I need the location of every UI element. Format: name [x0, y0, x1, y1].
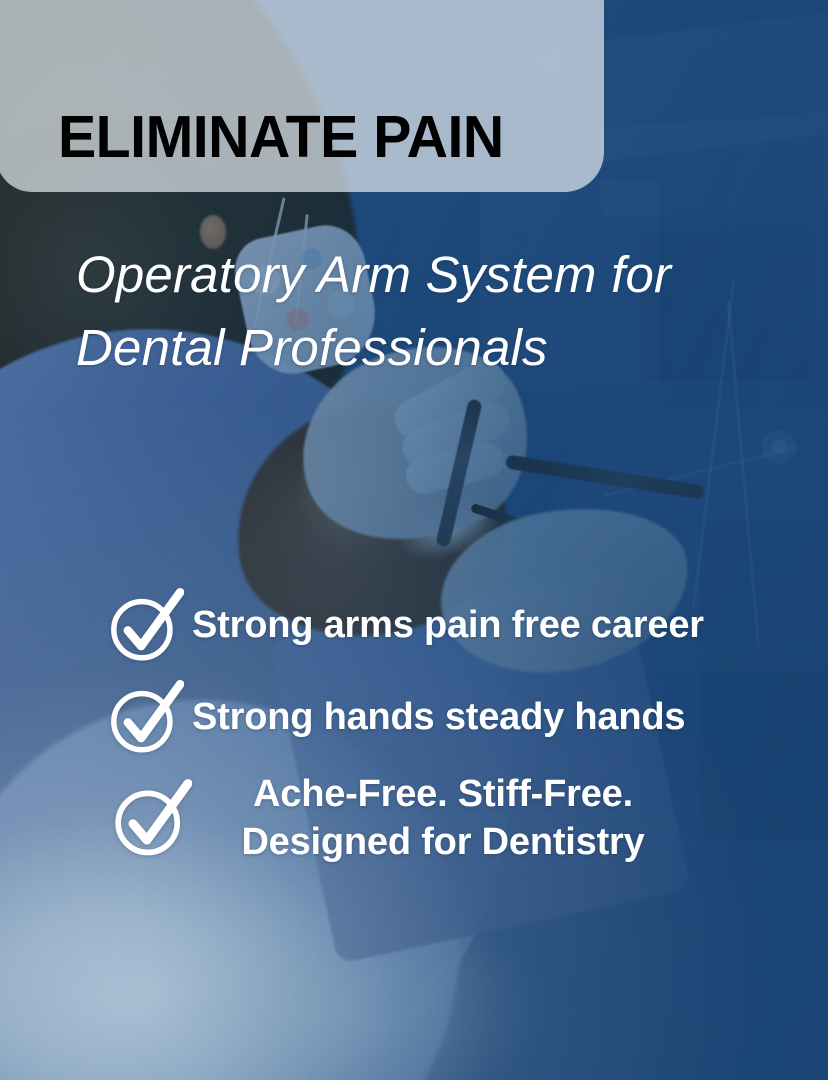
poster: ELIMINATE PAIN Operatory Arm System for …: [0, 0, 828, 1080]
list-item: Ache-Free. Stiff-Free. Designed for Dent…: [0, 770, 828, 866]
list-item: Strong arms pain free career: [0, 586, 828, 664]
subtitle: Operatory Arm System for Dental Professi…: [76, 238, 776, 384]
subtitle-line-1: Operatory Arm System for: [76, 238, 776, 311]
feature-list: Strong arms pain free career Strong hand…: [0, 586, 828, 880]
list-item: Strong hands steady hands: [0, 678, 828, 756]
check-circle-icon: [106, 678, 184, 756]
list-item-label: Ache-Free. Stiff-Free. Designed for Dent…: [208, 770, 678, 866]
subtitle-line-2: Dental Professionals: [76, 311, 776, 384]
page-title: ELIMINATE PAIN: [58, 108, 504, 167]
list-item-label-line-2: Designed for Dentistry: [208, 818, 678, 866]
list-item-label: Strong arms pain free career: [192, 603, 828, 647]
check-circle-icon: [110, 777, 192, 859]
list-item-label: Strong hands steady hands: [192, 695, 828, 739]
list-item-label-line-1: Ache-Free. Stiff-Free.: [208, 770, 678, 818]
check-circle-icon: [106, 586, 184, 664]
